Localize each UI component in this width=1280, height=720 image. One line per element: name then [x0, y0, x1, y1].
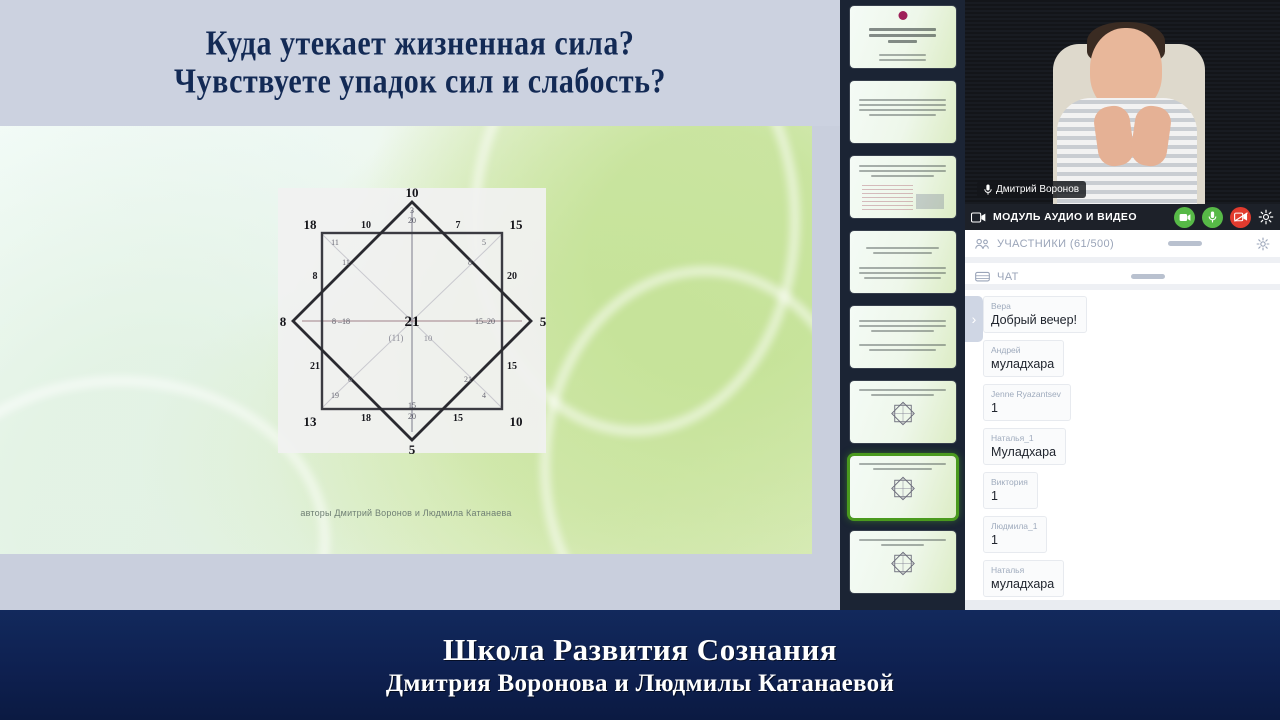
diagram-inner-se-small: 4	[482, 391, 486, 400]
chat-text: 1	[991, 488, 1028, 504]
chat-message: Наталья муладхара	[983, 560, 1064, 597]
slide-thumbnail-2[interactable]	[850, 81, 956, 143]
diagram-center-right-small: 10	[424, 333, 433, 343]
chat-text: 1	[991, 400, 1061, 416]
slide-thumbnail-1[interactable]	[850, 6, 956, 68]
diagram-edge-right-lower: 15	[507, 361, 517, 372]
chat-author: Виктория	[991, 476, 1028, 488]
chat-message: Наталья_1 Муладхара	[983, 428, 1066, 465]
chat-message: Jenne Ryazantsev 1	[983, 384, 1071, 421]
participants-label: УЧАСТНИКИ (61/500)	[997, 238, 1114, 250]
slide-caption: авторы Дмитрий Воронов и Людмила Катанае…	[0, 508, 812, 518]
diagram-edge-top-right: 7	[456, 220, 461, 231]
diagram-inner-nw-small: 11	[331, 238, 339, 247]
diagram-value-top: 10	[406, 186, 419, 200]
av-settings-button[interactable]	[1258, 209, 1274, 225]
chat-collapse-button[interactable]: ›	[965, 296, 983, 342]
chat-message-row: Наталья муладхара	[965, 560, 1280, 604]
chat-message-row: Виктория 1	[965, 472, 1280, 516]
diagram-axis-bottom-small: 20	[408, 412, 416, 421]
diagram-axis-right-inner: 15–20	[475, 317, 495, 326]
camera-icon	[1179, 213, 1191, 222]
chat-message-row: Наталья_1 Муладхара	[965, 428, 1280, 472]
chat-author: Андрей	[991, 344, 1054, 356]
diagram-inner-ne-small: 5	[482, 238, 486, 247]
banner-title: Школа Развития Сознания	[443, 632, 837, 668]
stop-screen-share-button[interactable]	[1230, 207, 1251, 228]
matrix-of-destiny-diagram: 10 5 5 8 18 15 10 13 10 7 8 21 20 15	[278, 186, 546, 456]
chat-message: Виктория 1	[983, 472, 1038, 509]
chat-text: Добрый вечер!	[991, 312, 1077, 328]
chat-text: муладхара	[991, 576, 1054, 592]
chat-message-row: Jenne Ryazantsev 1	[965, 384, 1280, 428]
participants-settings-button[interactable]	[1256, 237, 1270, 251]
microphone-icon	[1208, 211, 1217, 223]
chat-message-row: Вера Добрый вечер!	[965, 296, 1280, 340]
chat-label: ЧАТ	[997, 271, 1019, 283]
diagram-inner-se-node: 21	[464, 375, 472, 384]
chat-message-list[interactable]: Вера Добрый вечер! Андрей муладхара Jenn…	[965, 290, 1280, 610]
diagram-edge-left-lower: 21	[310, 361, 320, 372]
diagram-edge-bottom-right: 15	[453, 413, 463, 424]
diagram-edge-bottom-left: 18	[361, 413, 371, 424]
presenter-video[interactable]: Дмитрий Воронов	[965, 0, 1280, 204]
slide-thumbnail-3[interactable]	[850, 156, 956, 218]
slide-thumbnail-rail[interactable]	[840, 0, 965, 620]
video-nameplate: Дмитрий Воронов	[977, 181, 1086, 198]
chat-author: Вера	[991, 300, 1077, 312]
microphone-toggle-button[interactable]	[1202, 207, 1223, 228]
stop-screen-share-icon	[1234, 212, 1248, 222]
diagram-value-right: 5	[540, 314, 546, 329]
diagram-axis-top-inner: 20	[408, 216, 416, 225]
current-slide[interactable]: 10 5 5 8 18 15 10 13 10 7 8 21 20 15	[0, 126, 812, 554]
diagram-value-left: 8	[280, 314, 287, 329]
diagram-value-bottom: 5	[409, 442, 416, 456]
chat-author: Наталья	[991, 564, 1054, 576]
diagram-inner-nw-node: 11	[342, 258, 350, 267]
diagram-inner-sw-node: 6	[348, 375, 352, 384]
participants-drag-handle[interactable]	[1168, 241, 1202, 246]
gear-icon	[1256, 237, 1270, 251]
diagram-center-sub: (11)	[389, 333, 404, 343]
page-title-line-1: Куда утекает жизненная сила?	[206, 24, 635, 64]
chat-text: 1	[991, 532, 1037, 548]
diagram-edge-left-upper: 8	[313, 271, 318, 282]
slide-thumbnail-6[interactable]	[850, 381, 956, 443]
diagram-corner-bl: 13	[304, 414, 318, 429]
diagram-inner-sw-small: 19	[331, 391, 339, 400]
diagram-center-value: 21	[405, 314, 420, 330]
diagram-inner-ne-node: 8	[468, 258, 472, 267]
video-conference-panel: Дмитрий Воронов МОДУЛЬ АУДИО И ВИДЕО	[965, 0, 1280, 620]
slide-thumbnail-7[interactable]	[850, 456, 956, 518]
screen-root: Куда утекает жизненная сила? Чувствуете …	[0, 0, 1280, 720]
chat-author: Людмила_1	[991, 520, 1037, 532]
presentation-stage: Куда утекает жизненная сила? Чувствуете …	[0, 0, 840, 610]
banner-subtitle: Дмитрия Воронова и Людмилы Катанаевой	[386, 670, 894, 698]
octagram-icon	[888, 549, 918, 579]
diagram-corner-tl: 18	[304, 217, 318, 232]
microphone-icon	[984, 184, 992, 195]
diagram-axis-left-inner: 8 –18	[332, 317, 350, 326]
chat-drag-handle[interactable]	[1131, 274, 1165, 279]
screen-share-icon	[971, 212, 986, 223]
presentation-title-bar: Куда утекает жизненная сила? Чувствуете …	[0, 0, 840, 126]
diagram-corner-tr: 15	[510, 217, 524, 232]
diagram-axis-top-small: 3	[410, 206, 414, 215]
diagram-edge-top-left: 10	[361, 220, 371, 231]
chat-text: муладхара	[991, 356, 1054, 372]
camera-toggle-button[interactable]	[1174, 207, 1195, 228]
chat-text: Муладхара	[991, 444, 1056, 460]
participants-panel-header[interactable]: УЧАСТНИКИ (61/500)	[965, 230, 1280, 257]
chat-author: Jenne Ryazantsev	[991, 388, 1061, 400]
slide-thumbnail-8[interactable]	[850, 531, 956, 593]
stage-bottom-strip	[0, 554, 840, 610]
chat-message: Людмила_1 1	[983, 516, 1047, 553]
diagram-edge-right-upper: 20	[507, 271, 517, 282]
octagram-icon	[888, 399, 918, 429]
diagram-corner-br: 10	[510, 414, 523, 429]
chat-message: Андрей муладхара	[983, 340, 1064, 377]
chat-message: Вера Добрый вечер!	[983, 296, 1087, 333]
gear-icon	[1258, 209, 1274, 225]
people-icon	[975, 238, 990, 250]
chat-author: Наталья_1	[991, 432, 1056, 444]
chat-icon	[975, 271, 990, 283]
video-participant-name: Дмитрий Воронов	[996, 184, 1079, 195]
av-module-toolbar: МОДУЛЬ АУДИО И ВИДЕО	[965, 204, 1280, 230]
av-module-label: МОДУЛЬ АУДИО И ВИДЕО	[993, 211, 1137, 223]
slide-thumbnail-4[interactable]	[850, 231, 956, 293]
chat-message-row: Андрей муладхара	[965, 340, 1280, 384]
slide-thumbnail-5[interactable]	[850, 306, 956, 368]
octagram-icon	[888, 474, 918, 504]
slide-logo-icon	[898, 11, 907, 20]
page-title-line-2: Чувствуете упадок сил и слабость?	[174, 62, 666, 102]
diagram-axis-bottom-inner: 15	[408, 401, 416, 410]
bottom-branding-banner: Школа Развития Сознания Дмитрия Воронова…	[0, 610, 1280, 720]
chat-message-row: Людмила_1 1	[965, 516, 1280, 560]
